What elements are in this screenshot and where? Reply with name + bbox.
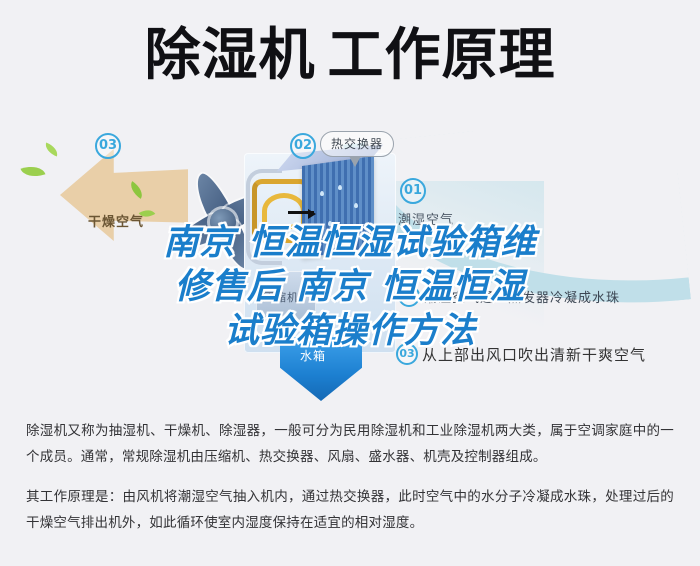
compressor-icon: 压缩机 [256,271,316,323]
condensation-droplets-icon [314,181,374,251]
step-badge-02-callout: 02 [290,133,316,159]
step-02-caption: 潮湿空气通过蒸发器冷凝成水珠 [424,287,620,306]
step-badge-03-right: 03 [396,343,418,365]
step-01-caption: 潮湿空气 [398,209,454,228]
compressor-label: 压缩机 [263,289,299,305]
airflow-swoosh-secondary-icon [374,181,544,331]
dry-air-label: 干燥空气 [88,211,144,230]
heat-exchanger-callout: 热交换器 [320,131,394,157]
title-part-one: 除湿机 [145,23,316,88]
dehumidifier-diagram: 干燥空气 压缩机 水箱 [0,125,700,410]
leaf-icon [21,162,46,181]
page-root: 除湿机工作原理 干燥空气 [0,0,700,566]
step-badge-02-right: 02 [398,285,420,307]
step-badge-03-left: 03 [95,133,121,159]
water-tank-label: 水箱 [300,347,326,364]
step-03-caption: 从上部出风口吹出清新干爽空气 [422,344,646,365]
leaf-icon [43,143,60,157]
airflow-arrow-icon [288,211,314,214]
fan-hub-icon [210,209,236,235]
page-title: 除湿机工作原理 [0,28,700,84]
article-body: 除湿机又称为抽湿机、干燥机、除湿器，一般可分为民用除湿机和工业除湿机两大类，属于… [26,418,674,536]
step-badge-01: 01 [400,178,426,204]
body-paragraph-1: 除湿机又称为抽湿机、干燥机、除湿器，一般可分为民用除湿机和工业除湿机两大类，属于… [26,418,674,470]
body-paragraph-2: 其工作原理是：由风机将潮湿空气抽入机内，通过热交换器，此时空气中的水分子冷凝成水… [26,484,674,536]
title-part-two: 工作原理 [328,23,556,88]
machine-body: 压缩机 [244,153,396,353]
